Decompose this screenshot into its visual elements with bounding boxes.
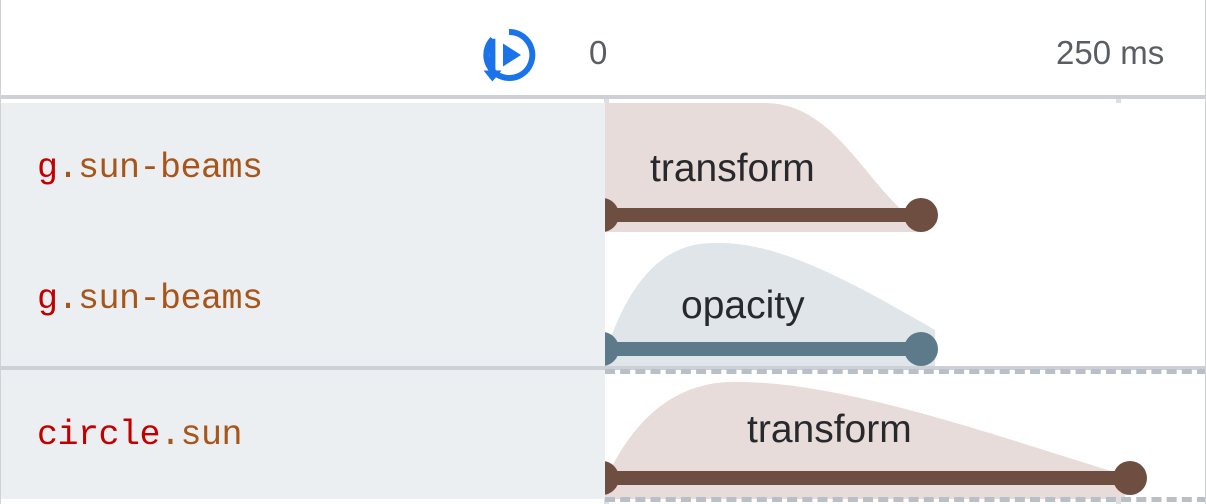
animation-start-handle[interactable]: [605, 332, 619, 366]
ruler-start-label: 0: [589, 36, 607, 69]
animation-inspector-panel: 0 250 ms g.sun-beams: [0, 0, 1206, 504]
animation-end-handle[interactable]: [904, 198, 938, 232]
animation-lane[interactable]: transform: [605, 103, 1206, 232]
ruler-end-label: 250 ms: [1056, 36, 1164, 69]
animation-start-handle[interactable]: [605, 198, 619, 232]
replay-icon[interactable]: [480, 26, 538, 84]
animated-property-label: opacity: [681, 286, 805, 325]
selector-tag: g: [37, 279, 58, 319]
selector-rest: .sun-beams: [58, 148, 263, 188]
animation-group-selected[interactable]: circle.sun transform: [1, 370, 1206, 500]
animation-start-handle[interactable]: [605, 461, 619, 495]
animation-lane[interactable]: opacity: [605, 232, 1206, 366]
animation-row[interactable]: circle.sun transform: [1, 370, 1206, 499]
row-selector-label: circle.sun: [1, 370, 605, 499]
animation-duration-bar[interactable]: [605, 208, 921, 222]
animation-duration-bar[interactable]: [605, 342, 921, 356]
animation-row[interactable]: g.sun-beams opacity: [1, 232, 1206, 366]
timeline-header: 0 250 ms: [1, 0, 1206, 99]
animation-end-handle[interactable]: [904, 332, 938, 366]
row-selector-label: g.sun-beams: [1, 232, 605, 366]
row-selector-label: g.sun-beams: [1, 103, 605, 232]
animation-row[interactable]: g.sun-beams transform: [1, 103, 1206, 232]
animated-property-label: transform: [650, 149, 815, 188]
animated-property-label: transform: [747, 410, 912, 449]
selector-rest: .sun: [160, 415, 242, 455]
selector-rest: .sun-beams: [58, 279, 263, 319]
animation-lane[interactable]: transform: [605, 370, 1206, 499]
animation-end-handle[interactable]: [1113, 461, 1147, 495]
selector-tag: circle: [37, 415, 160, 455]
animation-group[interactable]: g.sun-beams transform g.su: [1, 103, 1206, 370]
animation-duration-bar[interactable]: [605, 471, 1128, 485]
selector-tag: g: [37, 148, 58, 188]
animation-track-list: g.sun-beams transform g.su: [1, 103, 1206, 504]
